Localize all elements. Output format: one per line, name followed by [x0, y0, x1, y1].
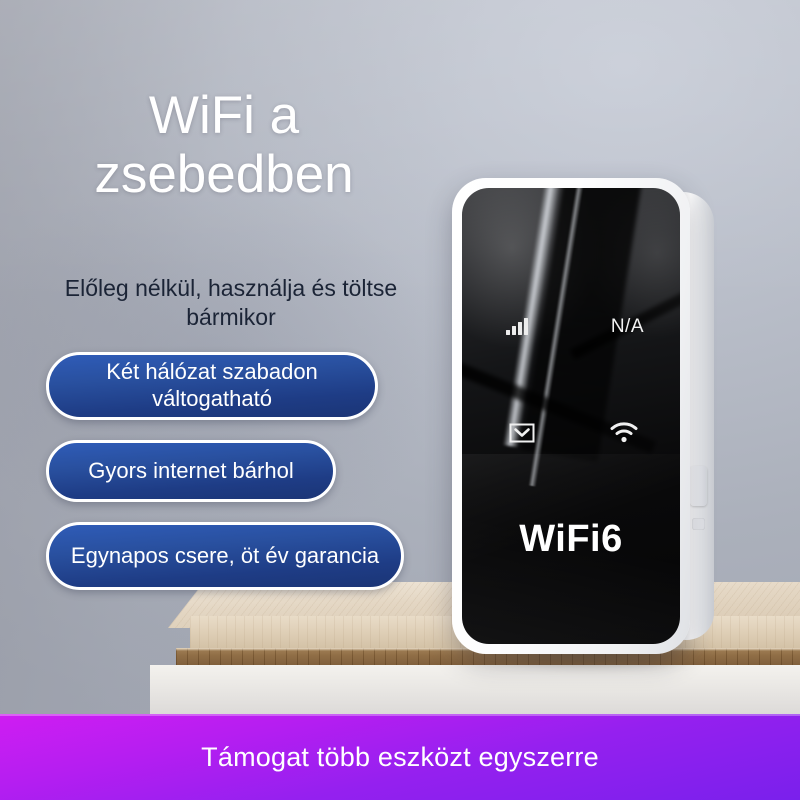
banner-text: Támogat több eszközt egyszerre	[201, 742, 599, 773]
feature-pill-fast-internet[interactable]: Gyors internet bárhol	[46, 440, 336, 502]
product-advertisement-poster: N/A WiFi6	[0, 0, 800, 800]
page-subtitle: Előleg nélkül, használja és töltse bármi…	[56, 274, 406, 333]
envelope-icon	[509, 423, 535, 448]
device-screen: N/A WiFi6	[462, 188, 680, 644]
feature-pill-list: Két hálózat szabadon váltogatható Gyors …	[0, 352, 460, 610]
mobile-hotspot-device: N/A WiFi6	[452, 178, 720, 654]
network-status-label: N/A	[611, 316, 644, 338]
feature-pill-warranty[interactable]: Egynapos csere, öt év garancia	[46, 522, 404, 590]
feature-pill-dual-network[interactable]: Két hálózat szabadon váltogatható	[46, 352, 378, 420]
device-power-button[interactable]	[690, 466, 707, 506]
signal-bars-icon	[506, 318, 528, 335]
page-title: WiFi a zsebedben	[44, 86, 404, 205]
table-base-panel	[150, 665, 800, 715]
device-secondary-button[interactable]	[692, 518, 705, 530]
device-status-indicators: N/A	[462, 188, 680, 644]
signal-bars-glyph	[506, 318, 528, 335]
wifi-icon	[610, 422, 638, 448]
device-brand-label: WiFi6	[462, 518, 680, 561]
device-body: N/A WiFi6	[452, 178, 690, 654]
bottom-banner: Támogat több eszközt egyszerre	[0, 714, 800, 800]
banner-top-divider	[0, 714, 800, 716]
